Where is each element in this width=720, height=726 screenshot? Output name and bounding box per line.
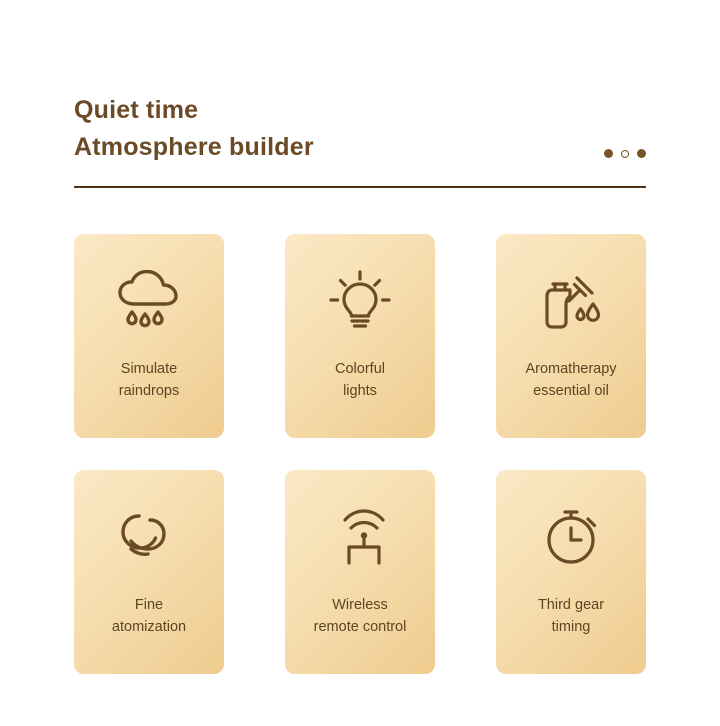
feature-card-colorful-lights[interactable]: Colorful lights <box>285 234 435 438</box>
feature-label-line-1: Colorful <box>335 361 385 377</box>
pagination-dot-3[interactable] <box>637 149 646 158</box>
feature-card-third-gear-timing[interactable]: Third gear timing <box>496 470 646 674</box>
feature-label-line-1: Simulate <box>121 361 177 377</box>
feature-card-label: Third gear timing <box>504 594 638 638</box>
feature-label-line-2: atomization <box>112 619 186 635</box>
feature-card-label: Simulate raindrops <box>82 358 216 402</box>
feature-card-label: Wireless remote control <box>293 594 427 638</box>
title-block: Quiet time Atmosphere builder <box>74 92 646 166</box>
feature-label-line-1: Aromatherapy <box>525 361 616 377</box>
timer-clock-icon <box>538 506 604 568</box>
page-header: Quiet time Atmosphere builder <box>74 92 646 166</box>
page-title-line-1: Quiet time <box>74 92 314 128</box>
page-root: Quiet time Atmosphere builder S <box>0 0 720 726</box>
pagination-dots[interactable] <box>604 149 646 158</box>
mist-cloud-icon <box>112 506 186 568</box>
feature-label-line-2: essential oil <box>533 383 609 399</box>
feature-card-simulate-raindrops[interactable]: Simulate raindrops <box>74 234 224 438</box>
pagination-dot-1[interactable] <box>604 149 613 158</box>
feature-label-line-2: lights <box>343 383 377 399</box>
feature-card-wireless-remote-control[interactable]: Wireless remote control <box>285 470 435 674</box>
feature-card-label: Colorful lights <box>293 358 427 402</box>
light-bulb-icon <box>327 270 393 332</box>
feature-card-label: Fine atomization <box>82 594 216 638</box>
feature-label-line-2: remote control <box>314 619 407 635</box>
feature-card-fine-atomization[interactable]: Fine atomization <box>74 470 224 674</box>
feature-label-line-1: Third gear <box>538 597 604 613</box>
page-title: Quiet time Atmosphere builder <box>74 92 314 166</box>
feature-grid: Simulate raindrops Colorful lig <box>74 234 646 674</box>
feature-label-line-2: raindrops <box>119 383 179 399</box>
feature-label-line-2: timing <box>552 619 591 635</box>
feature-card-aromatherapy-essential-oil[interactable]: Aromatherapy essential oil <box>496 234 646 438</box>
rain-cloud-icon <box>112 270 186 332</box>
wireless-remote-icon <box>327 506 393 568</box>
feature-label-line-1: Wireless <box>332 597 388 613</box>
essential-oil-dropper-icon <box>536 270 606 332</box>
feature-label-line-1: Fine <box>135 597 163 613</box>
feature-card-label: Aromatherapy essential oil <box>504 358 638 402</box>
header-divider <box>74 186 646 188</box>
pagination-dot-2[interactable] <box>621 150 629 158</box>
page-title-line-2: Atmosphere builder <box>74 128 314 166</box>
